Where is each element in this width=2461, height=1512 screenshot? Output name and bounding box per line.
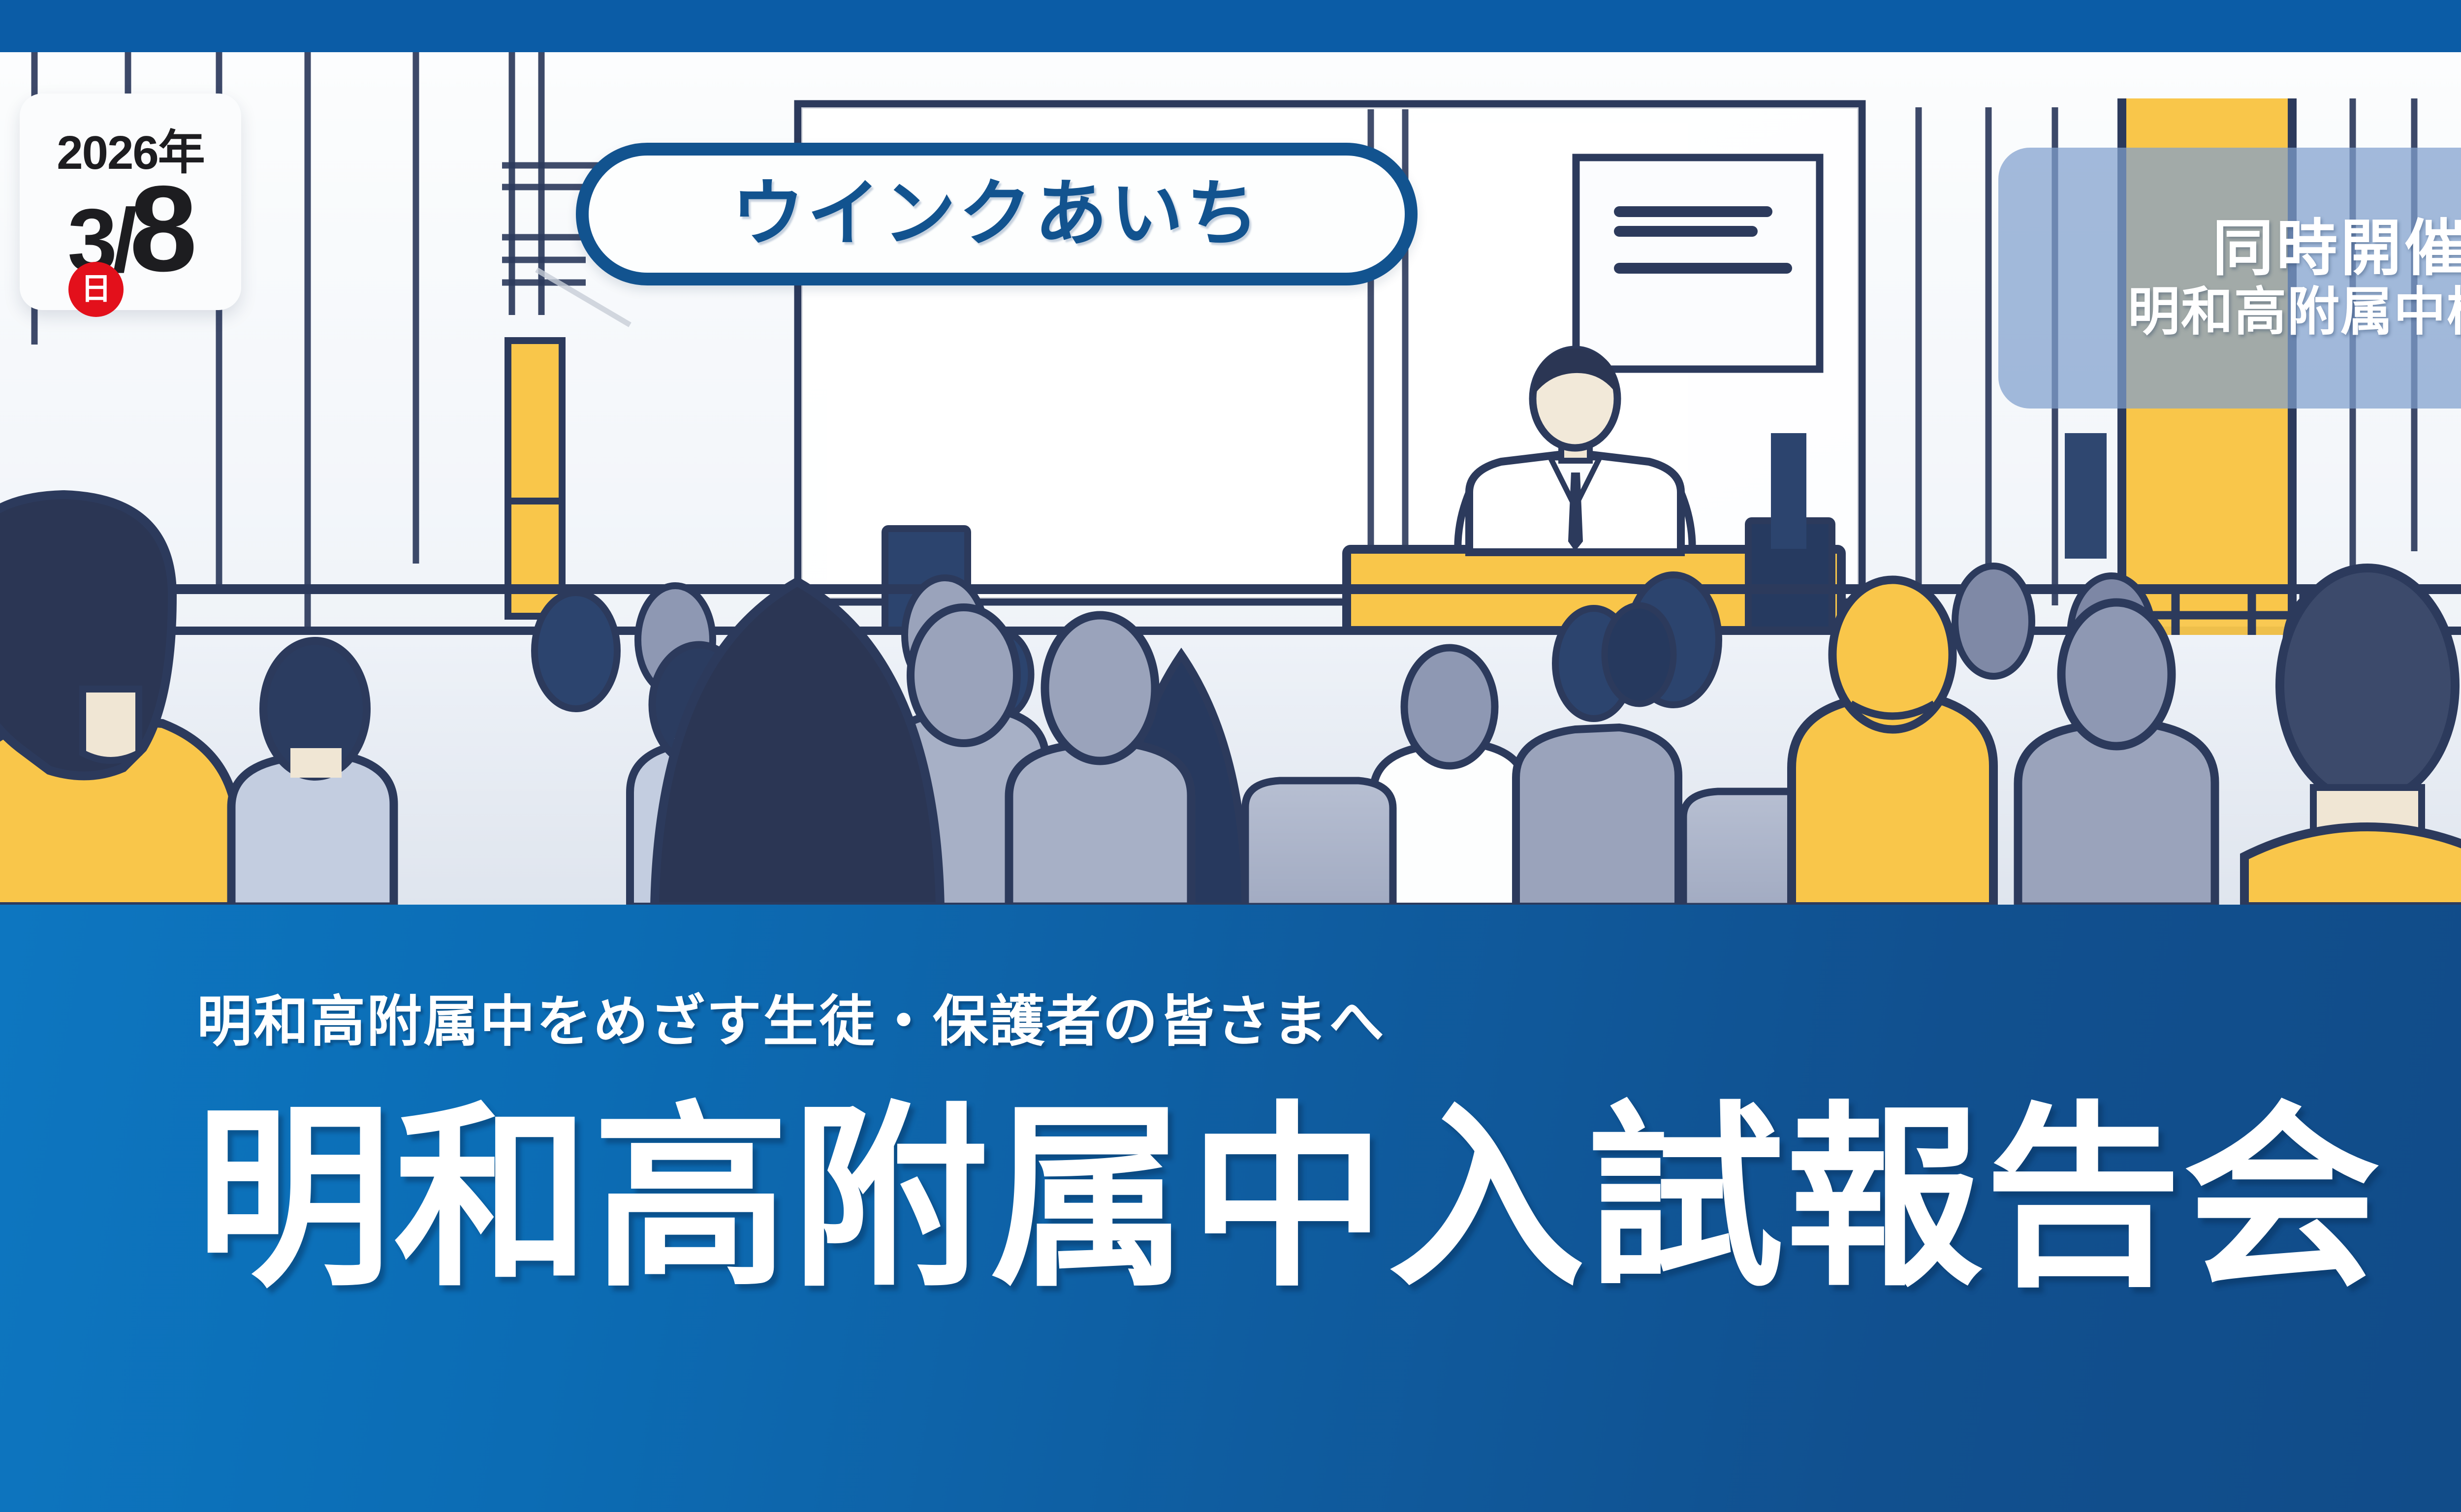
event-banner-poster: 2026年 3/ 日 8 ウインクあいち 同時開催 明和高附属中模試 明和高附属… <box>0 0 2461 1512</box>
date-badge: 2026年 3/ 日 8 <box>20 94 241 310</box>
day-of-week-label: 日 <box>81 274 111 305</box>
date-month-column: 3/ 日 <box>67 204 132 277</box>
concurrent-heading: 同時開催 <box>2212 218 2461 279</box>
headline-band-inner: 明和高附属中をめざす生徒・保護者の皆さまへ 明和高附属中入試報告会 <box>0 905 2461 1512</box>
lecture-hall-illustration <box>0 0 2461 907</box>
date-month-day-group: 3/ 日 8 <box>67 180 193 277</box>
concurrent-event-name: 明和高附属中模試 <box>2128 286 2461 338</box>
headline-band: 明和高附属中をめざす生徒・保護者の皆さまへ 明和高附属中入試報告会 <box>0 905 2461 1512</box>
top-accent-bar <box>0 0 2461 52</box>
concurrent-event-badge: 同時開催 明和高附属中模試 <box>1998 148 2461 409</box>
venue-pill: ウインクあいち <box>576 143 1418 285</box>
date-day-number: 8 <box>129 180 193 277</box>
venue-label: ウインクあいち <box>731 178 1262 251</box>
page-title: 明和高附属中入試報告会 <box>195 1101 2382 1297</box>
headline-kicker: 明和高附属中をめざす生徒・保護者の皆さまへ <box>197 994 1386 1049</box>
day-of-week-circle: 日 <box>68 262 124 317</box>
